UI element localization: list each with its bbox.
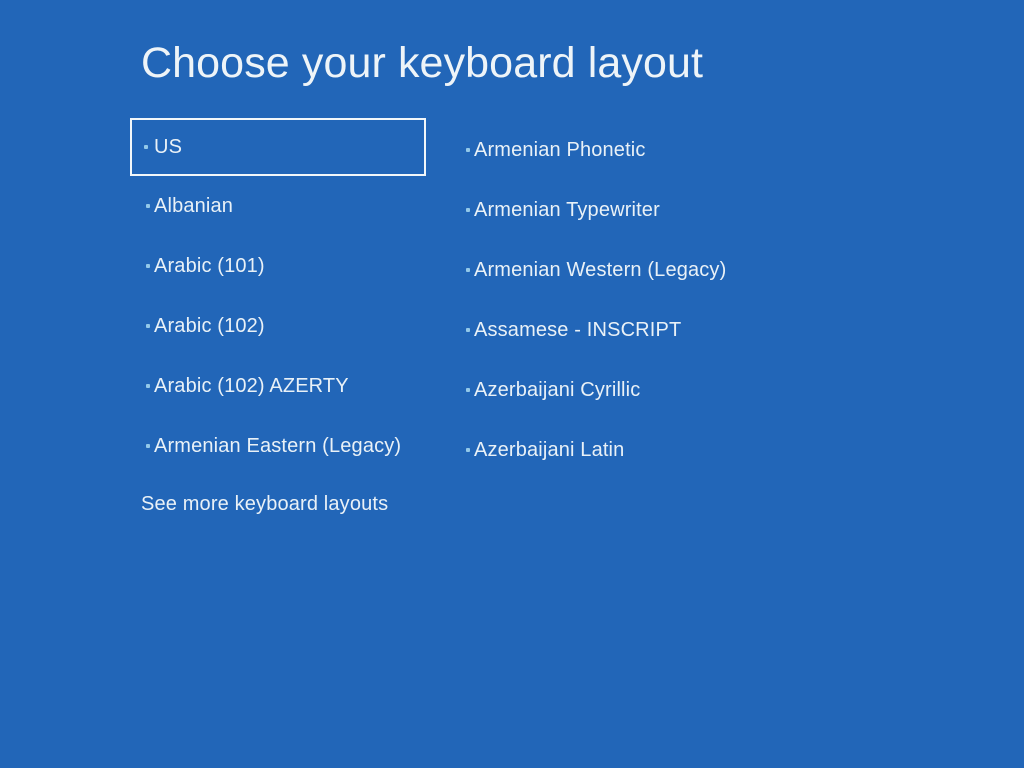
layout-option-arabic-102[interactable]: Arabic (102): [132, 296, 432, 356]
layout-option-label: Albanian: [154, 194, 233, 218]
bullet-dot-icon: [146, 204, 150, 208]
layout-option-label: Azerbaijani Latin: [474, 438, 624, 462]
layout-option-label: Arabic (102) AZERTY: [154, 374, 349, 398]
bullet-dot-icon: [146, 444, 150, 448]
layout-option-us[interactable]: US: [130, 118, 426, 176]
keyboard-layout-list-right: Armenian Phonetic Armenian Typewriter Ar…: [452, 120, 782, 480]
layout-option-azerbaijani-latin[interactable]: Azerbaijani Latin: [452, 420, 782, 480]
layout-option-azerbaijani-cyrillic[interactable]: Azerbaijani Cyrillic: [452, 360, 782, 420]
layout-option-label: Armenian Phonetic: [474, 138, 646, 162]
see-more-keyboard-layouts-link[interactable]: See more keyboard layouts: [141, 490, 388, 518]
layout-option-label: Armenian Typewriter: [474, 198, 660, 222]
layout-option-armenian-eastern-legacy[interactable]: Armenian Eastern (Legacy): [132, 416, 432, 476]
layout-option-armenian-typewriter[interactable]: Armenian Typewriter: [452, 180, 782, 240]
layout-option-label: Armenian Eastern (Legacy): [154, 434, 401, 458]
layout-option-arabic-101[interactable]: Arabic (101): [132, 236, 432, 296]
bullet-dot-icon: [466, 388, 470, 392]
layout-option-armenian-western-legacy[interactable]: Armenian Western (Legacy): [452, 240, 782, 300]
bullet-dot-icon: [466, 328, 470, 332]
layout-option-label: Arabic (102): [154, 314, 265, 338]
bullet-dot-icon: [144, 145, 148, 149]
layout-option-label: Azerbaijani Cyrillic: [474, 378, 640, 402]
layout-option-arabic-102-azerty[interactable]: Arabic (102) AZERTY: [132, 356, 432, 416]
layout-option-label: Arabic (101): [154, 254, 265, 278]
layout-option-assamese-inscript[interactable]: Assamese - INSCRIPT: [452, 300, 782, 360]
bullet-dot-icon: [466, 268, 470, 272]
page-title: Choose your keyboard layout: [141, 36, 703, 90]
bullet-dot-icon: [466, 148, 470, 152]
layout-option-armenian-phonetic[interactable]: Armenian Phonetic: [452, 120, 782, 180]
keyboard-layout-screen: Choose your keyboard layout US Albanian …: [0, 0, 1024, 768]
keyboard-layout-list-left: US Albanian Arabic (101) Arabic (102) Ar…: [132, 120, 432, 476]
bullet-dot-icon: [466, 208, 470, 212]
bullet-dot-icon: [146, 384, 150, 388]
layout-option-albanian[interactable]: Albanian: [132, 176, 432, 236]
bullet-dot-icon: [466, 448, 470, 452]
layout-option-label: US: [154, 135, 182, 159]
bullet-dot-icon: [146, 264, 150, 268]
layout-option-label: Armenian Western (Legacy): [474, 258, 726, 282]
bullet-dot-icon: [146, 324, 150, 328]
layout-option-label: Assamese - INSCRIPT: [474, 318, 681, 342]
